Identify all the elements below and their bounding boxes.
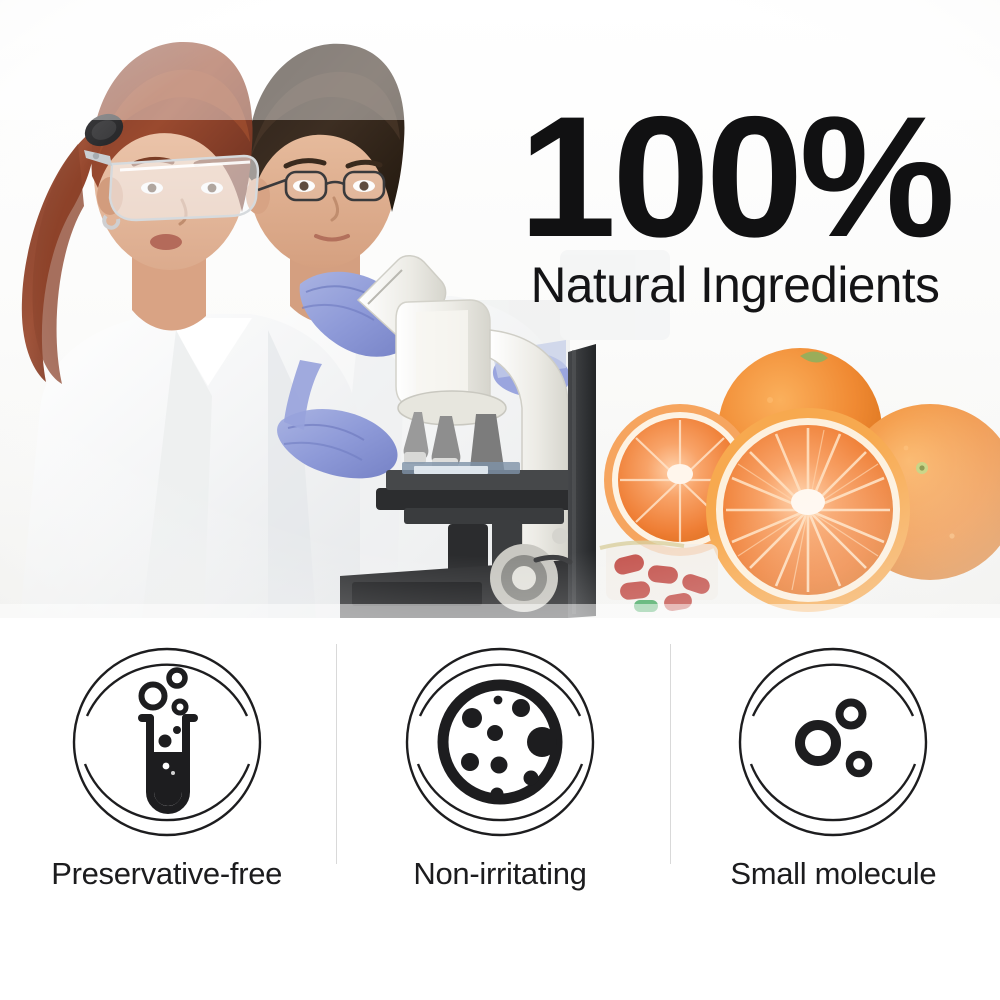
- headline-block: 100% Natural Ingredients: [505, 98, 965, 314]
- hero-photo: 100% Natural Ingredients: [0, 0, 1000, 618]
- molecule-rings-icon: [733, 642, 933, 842]
- feature-small-molecule[interactable]: Small molecule: [667, 618, 1000, 1000]
- feature-label-preservative-free: Preservative-free: [51, 856, 282, 892]
- feature-strip: Preservative-free Non-irritating: [0, 618, 1000, 1000]
- feature-label-small-molecule: Small molecule: [730, 856, 936, 892]
- petri-dish-dots-icon: [400, 642, 600, 842]
- feature-non-irritating[interactable]: Non-irritating: [333, 618, 666, 1000]
- headline-subtitle: Natural Ingredients: [507, 256, 962, 314]
- feature-preservative-free[interactable]: Preservative-free: [0, 618, 333, 1000]
- headline-percent: 100%: [500, 98, 969, 256]
- test-tube-bubbles-icon: [67, 642, 267, 842]
- product-infographic-page: 100% Natural Ingredients: [0, 0, 1000, 1000]
- feature-label-non-irritating: Non-irritating: [413, 856, 586, 892]
